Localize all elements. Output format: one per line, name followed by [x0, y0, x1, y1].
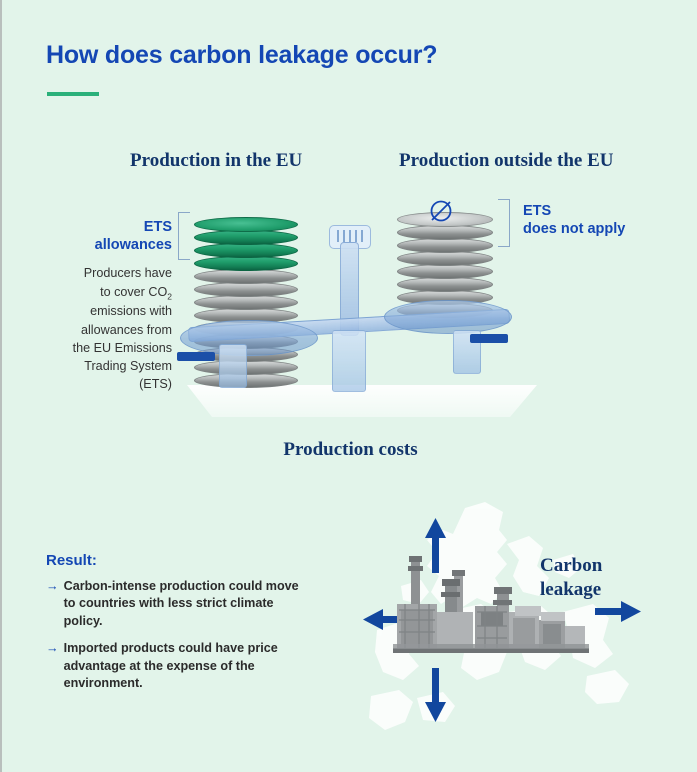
result-list-item: → Carbon-intense production could move t…	[46, 578, 314, 630]
ets-body-line3: emissions with	[90, 304, 172, 318]
co2-subscript: 2	[167, 291, 172, 301]
result-block: Result: → Carbon-intense production coul…	[46, 552, 314, 702]
title-accent-rule	[47, 92, 99, 96]
scale-foot-left	[219, 344, 247, 388]
ets-body-line4: allowances from	[81, 323, 172, 337]
result-title: Result:	[46, 552, 314, 569]
ets-not-apply-line1: ETS	[523, 203, 551, 219]
ets-body-line5: the EU Emissions	[73, 341, 172, 355]
result-list-item: → Imported products could have price adv…	[46, 640, 314, 692]
carbon-leakage-label: Carbon leakage	[540, 554, 602, 602]
ets-allowances-body: Producers have to cover CO2 emissions wi…	[50, 264, 172, 393]
arrow-bullet-icon: →	[46, 640, 59, 657]
carbon-leakage-line2: leakage	[540, 579, 601, 600]
result-item-text: Carbon-intense production could move to …	[64, 578, 314, 630]
page-title: How does carbon leakage occur?	[46, 41, 437, 70]
ets-body-line7: (ETS)	[139, 377, 172, 391]
ets-does-not-apply-block: ETS does not apply	[523, 203, 673, 238]
scale-pan-left	[180, 320, 318, 356]
carbon-leakage-illustration	[357, 500, 657, 750]
scale-adjuster-right	[470, 334, 508, 343]
ets-not-apply-line2: does not apply	[523, 221, 625, 237]
production-costs-caption: Production costs	[2, 439, 697, 461]
empty-set-icon	[426, 196, 456, 226]
heading-production-in-eu: Production in the EU	[130, 150, 302, 172]
ets-allowances-title-line2: allowances	[95, 237, 172, 253]
arrow-bullet-icon: →	[46, 578, 59, 595]
bracket-left	[178, 212, 190, 260]
scale-adjuster-left	[177, 352, 215, 361]
bracket-right	[498, 199, 510, 247]
ets-body-line1: Producers have	[84, 266, 172, 280]
ets-body-line6: Trading System	[84, 359, 172, 373]
ets-allowances-title-line1: ETS	[144, 219, 172, 235]
ets-allowances-block: ETS allowances Producers have to cover C…	[50, 219, 172, 394]
scale-pan-right	[384, 300, 512, 334]
ets-body-line2: to cover CO	[100, 285, 167, 299]
infographic-canvas: How does carbon leakage occur? Productio…	[0, 0, 697, 772]
result-item-text: Imported products could have price advan…	[64, 640, 314, 692]
heading-production-outside-eu: Production outside the EU	[399, 150, 613, 172]
carbon-leakage-line1: Carbon	[540, 555, 602, 576]
scale-base-column	[332, 330, 366, 392]
